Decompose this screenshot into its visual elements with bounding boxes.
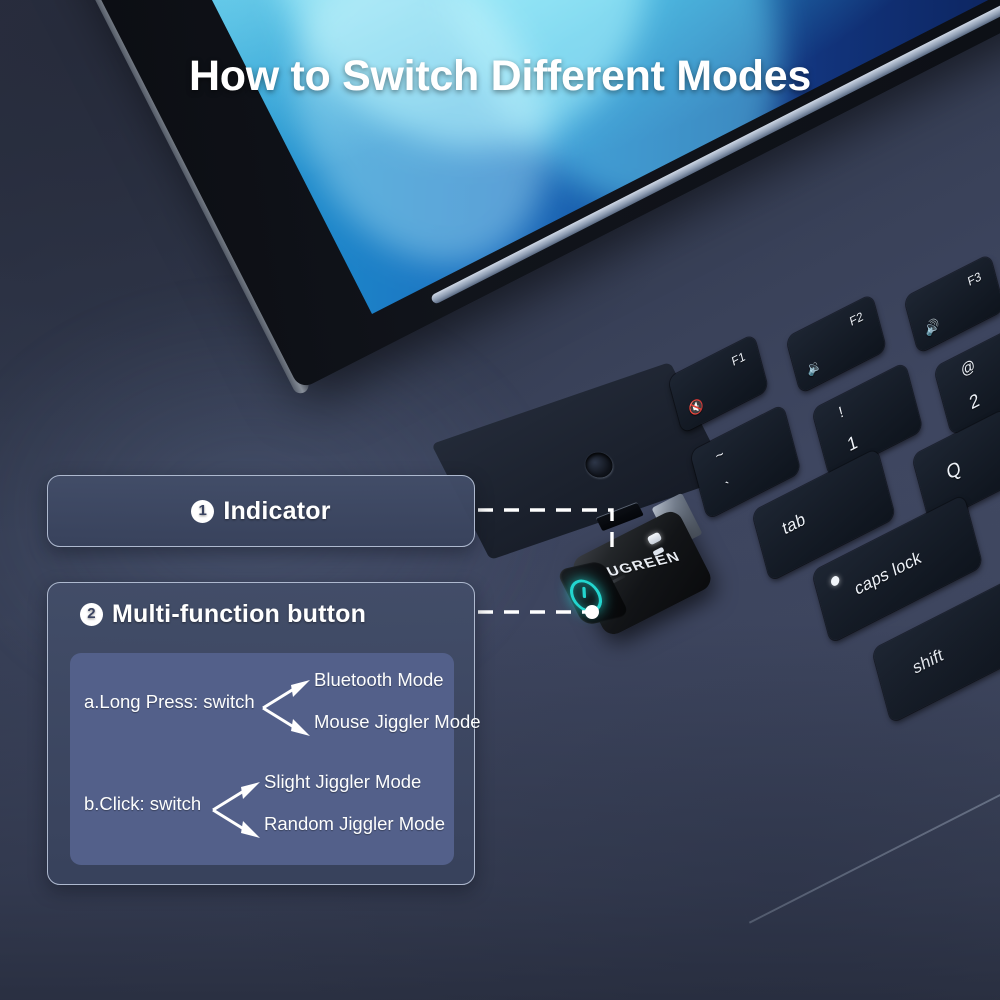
key-2-bottom-label: 2 bbox=[967, 389, 982, 414]
callout-2-label: Multi-function button bbox=[112, 600, 366, 629]
callout-1-label: Indicator bbox=[223, 497, 330, 526]
key-f3: F3 🔊 bbox=[904, 254, 1000, 353]
volume-up-icon: 🔊 bbox=[923, 316, 942, 339]
ugreen-bluetooth-dongle: UGREEN bbox=[556, 520, 726, 650]
mode-instructions-panel: a.Long Press: switch Bluetooth Mode Mous… bbox=[70, 653, 454, 865]
badge-number-1: 1 bbox=[191, 500, 214, 523]
page-title: How to Switch Different Modes bbox=[0, 52, 1000, 101]
f2-label: F2 bbox=[848, 309, 865, 329]
caps-lock-indicator bbox=[830, 574, 840, 587]
callout-multi-function-button[interactable]: 2 Multi-function button a.Long Press: sw… bbox=[47, 582, 475, 885]
tilde-top-label: ~ bbox=[714, 445, 727, 466]
q-label: Q bbox=[945, 457, 964, 486]
key-1-top-label: ! bbox=[837, 403, 845, 422]
mute-icon: 🔇 bbox=[687, 396, 706, 419]
f3-label: F3 bbox=[966, 269, 983, 289]
rule-click: b.Click: switch Slight Jiggler Mode Rand… bbox=[70, 653, 454, 865]
rule-b-option-1: Slight Jiggler Mode bbox=[264, 771, 421, 793]
rule-b-option-2: Random Jiggler Mode bbox=[264, 813, 445, 835]
volume-down-icon: 🔉 bbox=[805, 356, 824, 379]
tab-label: tab bbox=[780, 509, 807, 540]
callout-2-title: 2 Multi-function button bbox=[48, 583, 474, 645]
tilde-bottom-label: ` bbox=[724, 478, 733, 497]
caps-lock-label: caps lock bbox=[853, 547, 924, 600]
rule-b-action: b.Click: switch bbox=[84, 793, 201, 815]
key-1-bottom-label: 1 bbox=[845, 431, 860, 456]
callout-indicator[interactable]: 1 Indicator bbox=[47, 475, 475, 547]
key-2-top-label: @ bbox=[959, 356, 977, 380]
badge-number-2: 2 bbox=[80, 603, 103, 626]
infographic-canvas: F1 🔇 F2 🔉 F3 🔊 ~ ` ! 1 @ 2 bbox=[0, 0, 1000, 1000]
f1-label: F1 bbox=[730, 349, 747, 369]
callout-1-title: 1 Indicator bbox=[48, 476, 474, 546]
